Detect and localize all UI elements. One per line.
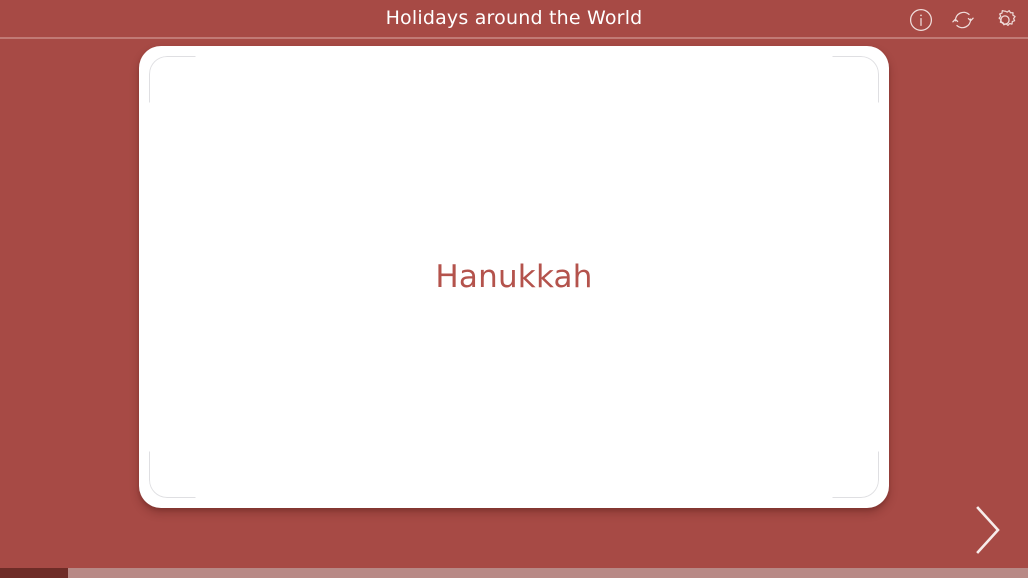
- progress-bar-fill: [0, 568, 68, 578]
- flashcard-area: Hanukkah: [139, 46, 889, 508]
- settings-button[interactable]: [990, 5, 1020, 35]
- page-title: Holidays around the World: [386, 9, 643, 28]
- chevron-right-icon: [971, 502, 1005, 561]
- card-term-text: Hanukkah: [435, 262, 592, 293]
- flashcard[interactable]: Hanukkah: [139, 46, 889, 508]
- refresh-icon: [949, 6, 977, 34]
- progress-bar[interactable]: [0, 568, 1028, 578]
- info-button[interactable]: [906, 5, 936, 35]
- app-header: Holidays around the World: [0, 0, 1028, 39]
- gear-icon: [991, 6, 1019, 34]
- next-button[interactable]: [962, 500, 1014, 562]
- header-actions: [906, 0, 1020, 39]
- shuffle-button[interactable]: [948, 5, 978, 35]
- info-icon: [908, 7, 934, 33]
- card-content: Hanukkah: [139, 46, 889, 508]
